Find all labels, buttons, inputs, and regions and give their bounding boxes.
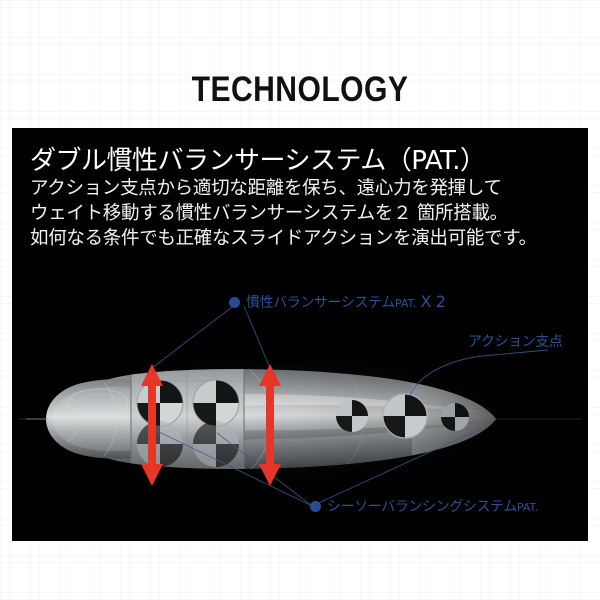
annotation-seesaw-text: シーソーバランシングシステム xyxy=(327,499,517,515)
inertia-weight-2 xyxy=(193,380,239,426)
seesaw-weight-left xyxy=(336,400,368,432)
annotation-seesaw-balancing: シーソーバランシングシステムPAT. xyxy=(310,496,538,516)
annotation-inertia-count: X 2 xyxy=(420,292,445,311)
page-title: TECHNOLOGY xyxy=(42,70,558,110)
seesaw-weight-right xyxy=(441,403,469,431)
annotation-seesaw-pat: PAT. xyxy=(517,501,539,514)
technology-panel: ダブル慣性バランサーシステム（PAT.） アクション支点から適切な距離を保ち、遠… xyxy=(12,128,588,541)
annotation-inertia-pat: PAT. xyxy=(395,297,417,310)
annotation-inertia-text: 慣性バランサーシステム xyxy=(246,295,395,311)
lure-nose xyxy=(26,379,136,459)
bullet-dot-icon xyxy=(310,501,321,512)
annotation-action-fulcrum: アクション支点 xyxy=(468,331,563,351)
annotation-inertia-balancer: 慣性バランサーシステムPAT. X 2 xyxy=(229,292,446,312)
annotation-fulcrum-text: アクション支点 xyxy=(468,334,563,350)
bullet-dot-icon xyxy=(229,297,240,308)
seesaw-weight-center xyxy=(383,394,427,438)
inertia-weight-1 xyxy=(137,380,183,426)
